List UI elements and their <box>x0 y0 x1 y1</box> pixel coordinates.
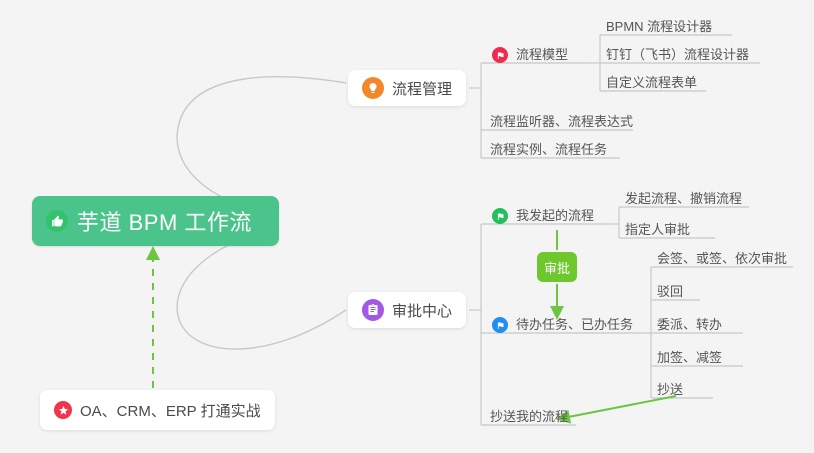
node-process-instance[interactable]: 流程实例、流程任务 <box>490 141 607 158</box>
label-start-cancel-process: 发起流程、撤销流程 <box>625 190 742 207</box>
label-custom-form: 自定义流程表单 <box>606 74 697 91</box>
label-countersign: 会签、或签、依次审批 <box>657 250 787 267</box>
branch-node-process-management[interactable]: 流程管理 <box>348 70 466 106</box>
label-assignee-approval: 指定人审批 <box>625 221 690 238</box>
root-node[interactable]: 芋道 BPM 工作流 <box>32 196 279 246</box>
label-my-initiated-process: 我发起的流程 <box>516 207 594 224</box>
node-countersign[interactable]: 会签、或签、依次审批 <box>657 250 787 267</box>
node-process-listener[interactable]: 流程监听器、流程表达式 <box>490 113 633 130</box>
label-process-listener: 流程监听器、流程表达式 <box>490 113 633 130</box>
node-start-cancel-process[interactable]: 发起流程、撤销流程 <box>625 190 742 207</box>
bottom-node-integration[interactable]: OA、CRM、ERP 打通实战 <box>40 390 275 430</box>
label-cc-to-me: 抄送我的流程 <box>490 408 568 425</box>
branch-label-process-management: 流程管理 <box>392 78 452 99</box>
thumbs-up-icon <box>46 210 68 232</box>
label-delegate-transfer: 委派、转办 <box>657 316 722 333</box>
flag-icon-blue <box>492 317 508 333</box>
node-delegate-transfer[interactable]: 委派、转办 <box>657 316 722 333</box>
branch-node-approval-center[interactable]: 审批中心 <box>348 292 466 328</box>
label-todo-done-tasks: 待办任务、已办任务 <box>516 316 633 333</box>
lightbulb-icon <box>362 77 384 99</box>
label-dingtalk-designer: 钉钉（飞书）流程设计器 <box>606 46 749 63</box>
node-todo-done-tasks[interactable]: 待办任务、已办任务 <box>492 316 633 333</box>
flag-icon-green <box>492 208 508 224</box>
node-bpmn-designer[interactable]: BPMN 流程设计器 <box>606 18 712 35</box>
wire-root-to-approval-center <box>177 230 346 349</box>
node-assignee-approval[interactable]: 指定人审批 <box>625 221 690 238</box>
node-cc[interactable]: 抄送 <box>657 381 683 398</box>
label-bpmn-designer: BPMN 流程设计器 <box>606 18 712 35</box>
node-add-remove-sign[interactable]: 加签、减签 <box>657 349 722 366</box>
label-cc: 抄送 <box>657 381 683 398</box>
node-process-model[interactable]: 流程模型 <box>492 46 586 63</box>
label-add-remove-sign: 加签、减签 <box>657 349 722 366</box>
root-label: 芋道 BPM 工作流 <box>77 205 252 237</box>
node-my-initiated-process[interactable]: 我发起的流程 <box>492 207 594 224</box>
star-icon <box>54 401 72 419</box>
arrow-cc-to-my-process <box>558 396 676 419</box>
node-cc-to-me[interactable]: 抄送我的流程 <box>490 408 568 425</box>
flag-icon-red <box>492 47 508 63</box>
clipboard-icon <box>362 299 384 321</box>
node-custom-form[interactable]: 自定义流程表单 <box>606 74 697 91</box>
label-process-model: 流程模型 <box>516 46 568 63</box>
tag-approval[interactable]: 审批 <box>537 252 577 282</box>
mindmap-canvas: 芋道 BPM 工作流 流程管理 流程模型 BPMN 流程设计器 钉钉（飞书）流程… <box>0 0 814 453</box>
branch-label-approval-center: 审批中心 <box>392 300 452 321</box>
node-dingtalk-designer[interactable]: 钉钉（飞书）流程设计器 <box>606 46 749 63</box>
bottom-node-label: OA、CRM、ERP 打通实战 <box>80 400 261 421</box>
node-reject[interactable]: 驳回 <box>657 283 683 300</box>
label-reject: 驳回 <box>657 283 683 300</box>
wire-root-to-process-management <box>177 77 346 214</box>
label-process-instance: 流程实例、流程任务 <box>490 141 607 158</box>
